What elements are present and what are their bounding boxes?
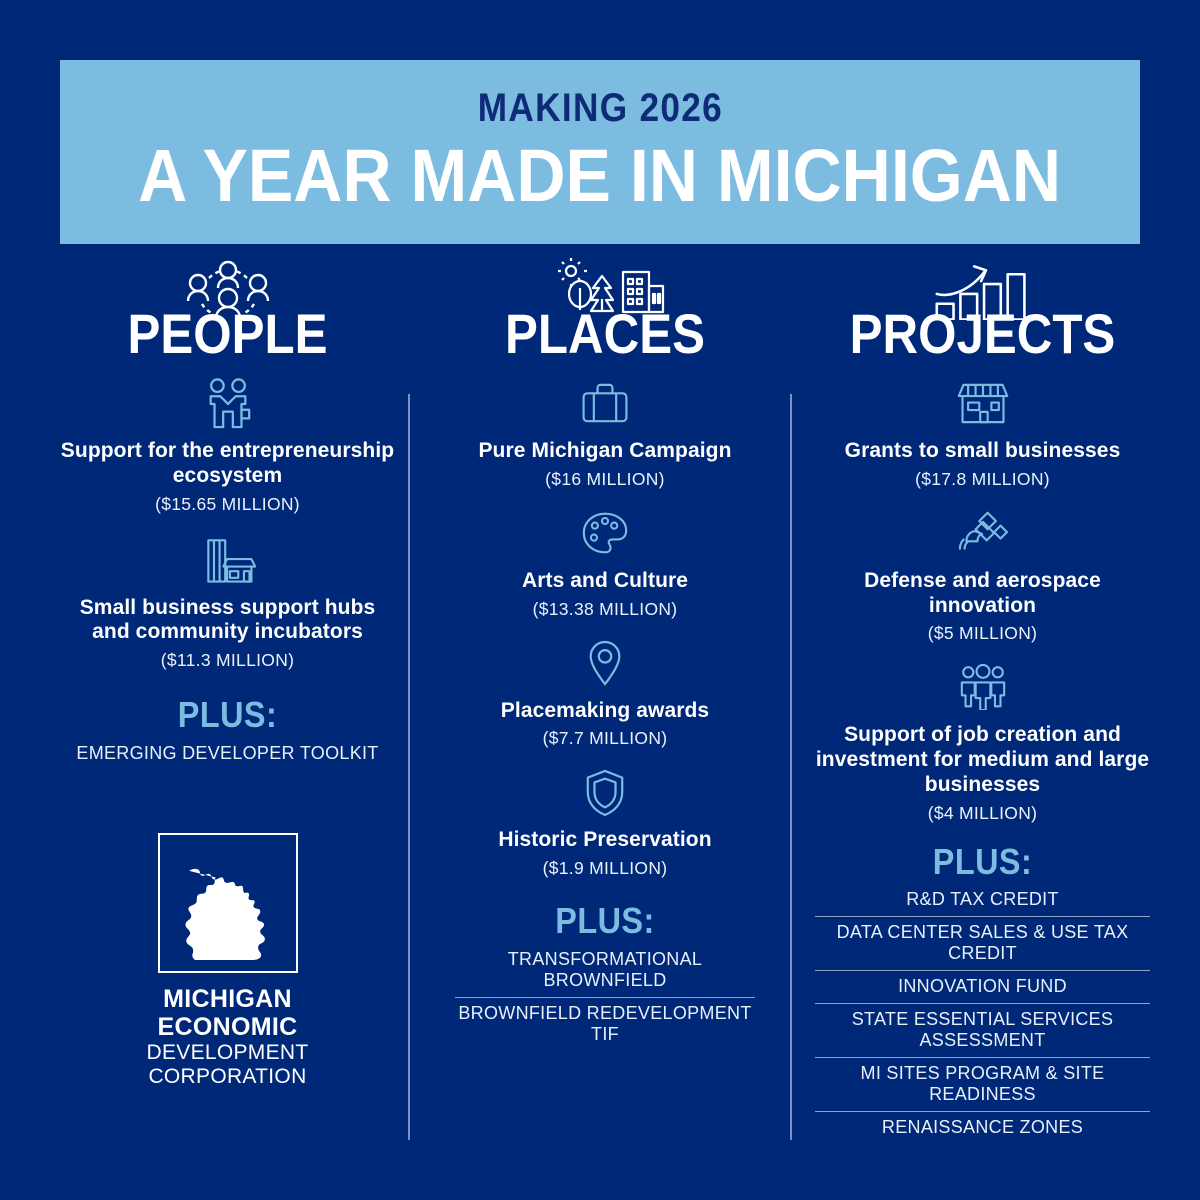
column-divider-1 (408, 394, 410, 1140)
section-header-people: PEOPLE (60, 258, 395, 366)
plus-block-people: PLUS: EMERGING DEVELOPER TOOLKIT (60, 695, 395, 769)
section-title-projects: PROJECTS (835, 306, 1130, 362)
section-title-places: PLACES (473, 306, 737, 362)
plus-item: DATA CENTER SALES & USE TAX CREDIT (815, 916, 1150, 970)
column-projects: PROJECTS Grants to small businesses ($17… (815, 258, 1150, 1144)
header-banner: MAKING 2026 A YEAR MADE IN MICHIGAN (60, 60, 1140, 244)
item-amount: ($7.7 MILLION) (455, 728, 755, 749)
section-title-people: PEOPLE (80, 306, 375, 362)
suitcase-icon (455, 376, 755, 430)
item-places-2: Placemaking awards ($7.7 MILLION) (455, 636, 755, 750)
plus-item: BROWNFIELD REDEVELOPMENT TIF (455, 997, 755, 1051)
plus-item: R&D TAX CREDIT (815, 884, 1150, 916)
item-label: Support of job creation and investment f… (815, 723, 1150, 797)
column-divider-2 (790, 394, 792, 1140)
plus-item: RENAISSANCE ZONES (815, 1111, 1150, 1144)
item-people-1: Small business support hubs and communit… (60, 533, 395, 672)
infographic-page: MAKING 2026 A YEAR MADE IN MICHIGAN (0, 0, 1200, 1200)
plus-item: MI SITES PROGRAM & SITE READINESS (815, 1057, 1150, 1111)
item-amount: ($17.8 MILLION) (815, 469, 1150, 490)
plus-heading: PLUS: (470, 901, 740, 941)
plus-list-places: TRANSFORMATIONAL BROWNFIELD BROWNFIELD R… (455, 944, 755, 1051)
satellite-icon (815, 506, 1150, 560)
item-label: Historic Preservation (455, 828, 755, 853)
section-header-projects: PROJECTS (815, 258, 1150, 366)
item-people-0: Support for the entrepreneurship ecosyst… (60, 376, 395, 515)
item-projects-1: Defense and aerospace innovation ($5 MIL… (815, 506, 1150, 645)
plus-item: INNOVATION FUND (815, 970, 1150, 1003)
column-places: PLACES Pure Michigan Campaign ($16 MILLI… (455, 258, 755, 1051)
logo-line-1: MICHIGAN (147, 985, 309, 1013)
plus-block-projects: PLUS: R&D TAX CREDIT DATA CENTER SALES &… (815, 842, 1150, 1144)
plus-item: STATE ESSENTIAL SERVICES ASSESSMENT (815, 1003, 1150, 1057)
logo-line-4: CORPORATION (147, 1065, 309, 1089)
plus-heading: PLUS: (77, 695, 379, 735)
plus-heading: PLUS: (832, 842, 1134, 882)
banner-title: A YEAR MADE IN MICHIGAN (139, 136, 1062, 216)
item-amount: ($13.38 MILLION) (455, 599, 755, 620)
storefront-building-icon (60, 533, 395, 587)
item-amount: ($5 MILLION) (815, 623, 1150, 644)
plus-item: TRANSFORMATIONAL BROWNFIELD (455, 944, 755, 997)
three-people-icon (815, 660, 1150, 714)
plus-list-people: EMERGING DEVELOPER TOOLKIT (60, 738, 395, 770)
item-amount: ($16 MILLION) (455, 469, 755, 490)
item-places-0: Pure Michigan Campaign ($16 MILLION) (455, 376, 755, 490)
banner-subtitle: MAKING 2026 (477, 88, 722, 128)
columns-container: PEOPLE Support for the entrepreneurship … (0, 258, 1200, 1188)
michigan-state-outline-icon (158, 833, 298, 973)
handshake-icon (60, 376, 395, 430)
item-amount: ($4 MILLION) (815, 803, 1150, 824)
shield-icon (455, 765, 755, 819)
plus-block-places: PLUS: TRANSFORMATIONAL BROWNFIELD BROWNF… (455, 901, 755, 1051)
item-amount: ($15.65 MILLION) (60, 494, 395, 515)
logo-line-2: ECONOMIC (147, 1013, 309, 1041)
item-label: Pure Michigan Campaign (455, 439, 755, 464)
storefront-icon (815, 376, 1150, 430)
item-label: Grants to small businesses (815, 439, 1150, 464)
logo-line-3: DEVELOPMENT (147, 1041, 309, 1065)
item-projects-0: Grants to small businesses ($17.8 MILLIO… (815, 376, 1150, 490)
plus-item: EMERGING DEVELOPER TOOLKIT (60, 738, 395, 770)
item-label: Arts and Culture (455, 569, 755, 594)
item-projects-2: Support of job creation and investment f… (815, 660, 1150, 823)
item-amount: ($1.9 MILLION) (455, 858, 755, 879)
medc-logo-text: MICHIGAN ECONOMIC DEVELOPMENT CORPORATIO… (147, 985, 309, 1088)
medc-logo: MICHIGAN ECONOMIC DEVELOPMENT CORPORATIO… (60, 833, 395, 1088)
item-label: Defense and aerospace innovation (815, 569, 1150, 619)
map-pin-icon (455, 636, 755, 690)
plus-list-projects: R&D TAX CREDIT DATA CENTER SALES & USE T… (815, 884, 1150, 1143)
palette-icon (455, 506, 755, 560)
item-label: Placemaking awards (455, 699, 755, 724)
item-amount: ($11.3 MILLION) (60, 650, 395, 671)
item-places-1: Arts and Culture ($13.38 MILLION) (455, 506, 755, 620)
item-label: Support for the entrepreneurship ecosyst… (60, 439, 395, 489)
column-people: PEOPLE Support for the entrepreneurship … (60, 258, 395, 1088)
item-places-3: Historic Preservation ($1.9 MILLION) (455, 765, 755, 879)
section-header-places: PLACES (455, 258, 755, 366)
item-label: Small business support hubs and communit… (60, 596, 395, 646)
